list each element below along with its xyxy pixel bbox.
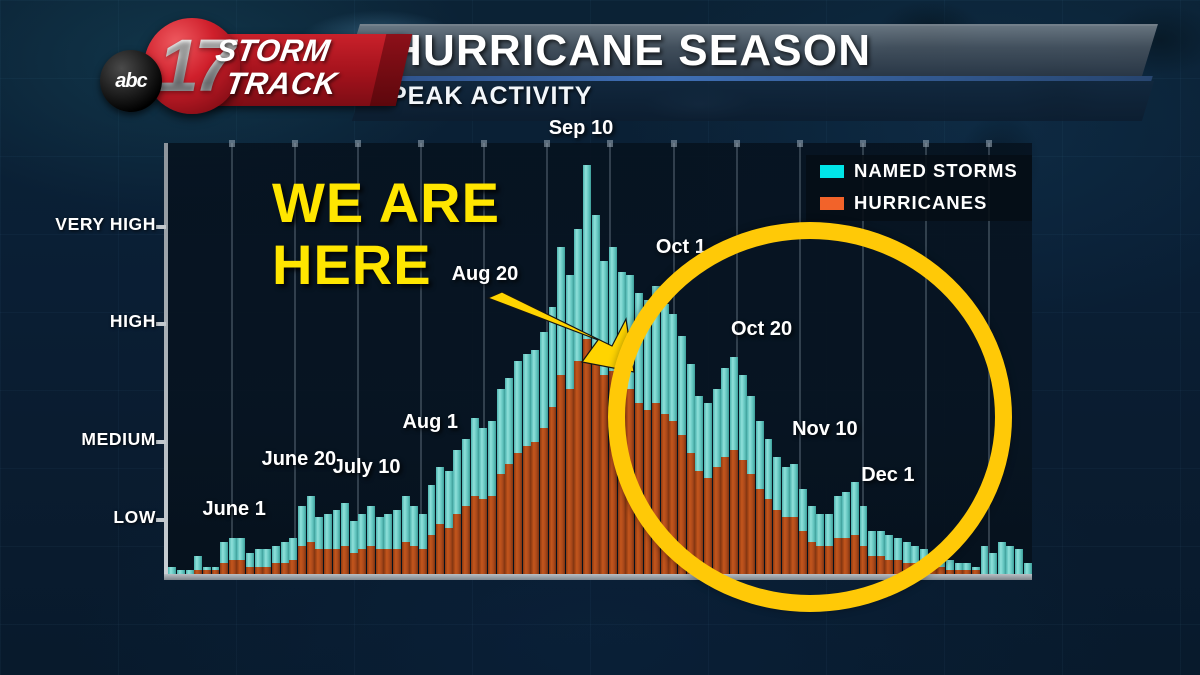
- bar-segment-hurricanes: [963, 570, 971, 574]
- chart-bar: [505, 378, 513, 574]
- chart-bar: [341, 503, 349, 574]
- gridline-tick: [292, 140, 298, 147]
- bar-segment-hurricanes: [540, 428, 548, 574]
- bar-segment-hurricanes: [583, 339, 591, 574]
- highlight-circle: [608, 222, 1012, 612]
- y-axis-label: HIGH: [110, 311, 156, 332]
- chart-bar: [177, 570, 185, 574]
- gridline-tick: [860, 140, 866, 147]
- pointer-arrow-icon: [486, 292, 636, 374]
- bar-segment-hurricanes: [428, 535, 436, 574]
- chart-bar: [393, 510, 401, 574]
- bar-segment-hurricanes: [436, 524, 444, 574]
- chart-bar: [471, 418, 479, 574]
- gridline-tick: [797, 140, 803, 147]
- date-annotation-label: June 1: [202, 498, 265, 521]
- chart-bar: [1024, 563, 1032, 574]
- bar-segment-hurricanes: [237, 560, 245, 574]
- bar-segment-hurricanes: [341, 546, 349, 574]
- chart-bar: [514, 361, 522, 574]
- logo-network-mark: abc: [100, 50, 162, 112]
- bar-segment-hurricanes: [289, 560, 297, 574]
- chart-bar: [246, 553, 254, 574]
- bar-segment-named-storms: [1015, 549, 1023, 574]
- chart-bar: [307, 496, 315, 574]
- chart-bar: [574, 229, 582, 574]
- bar-segment-hurricanes: [333, 549, 341, 574]
- bar-segment-named-storms: [186, 570, 194, 574]
- bar-segment-hurricanes: [263, 567, 271, 574]
- bar-segment-hurricanes: [566, 389, 574, 574]
- legend-label: NAMED STORMS: [854, 158, 1018, 184]
- bar-segment-hurricanes: [453, 514, 461, 574]
- bar-segment-hurricanes: [324, 549, 332, 574]
- bar-segment-hurricanes: [462, 506, 470, 574]
- bar-segment-hurricanes: [393, 549, 401, 574]
- chart-bar: [453, 450, 461, 574]
- bar-segment-hurricanes: [203, 570, 211, 574]
- bar-segment-named-storms: [168, 567, 176, 574]
- bar-segment-hurricanes: [937, 567, 945, 574]
- y-axis-tick: [156, 440, 166, 444]
- page-subtitle: PEAK ACTIVITY: [390, 82, 592, 111]
- bar-segment-hurricanes: [315, 549, 323, 574]
- chart-bar: [281, 542, 289, 574]
- chart-bar: [963, 563, 971, 574]
- bar-segment-hurricanes: [972, 570, 980, 574]
- chart-bar: [229, 538, 237, 574]
- bar-segment-hurricanes: [531, 442, 539, 574]
- bar-segment-hurricanes: [298, 546, 306, 574]
- bar-segment-hurricanes: [479, 499, 487, 574]
- bar-segment-named-storms: [177, 570, 185, 574]
- bar-segment-hurricanes: [272, 563, 280, 574]
- chart-bar: [998, 542, 1006, 574]
- bar-segment-hurricanes: [445, 528, 453, 574]
- chart-bar: [497, 389, 505, 574]
- chart-bar: [220, 542, 228, 574]
- station-logo: 17 abc STORM TRACK: [48, 8, 358, 120]
- chart-bar: [462, 439, 470, 574]
- chart-bar: [479, 428, 487, 574]
- callout-line-2: HERE: [272, 234, 572, 296]
- chart-bar: [358, 514, 366, 574]
- chart-bar: [333, 510, 341, 574]
- y-axis-tick: [156, 322, 166, 326]
- gridline-tick: [418, 140, 424, 147]
- bar-segment-hurricanes: [212, 570, 220, 574]
- bar-segment-named-storms: [1006, 546, 1014, 574]
- chart-bar: [972, 567, 980, 574]
- chart-bar: [981, 546, 989, 574]
- chart-bar: [168, 567, 176, 574]
- bar-segment-hurricanes: [497, 474, 505, 574]
- chart-bar: [955, 563, 963, 574]
- chart-bar: [367, 506, 375, 574]
- bar-segment-hurricanes: [471, 496, 479, 574]
- logo-brand-line1: STORM: [213, 34, 408, 67]
- bar-segment-hurricanes: [376, 549, 384, 574]
- gridline-tick: [923, 140, 929, 147]
- chart-bar: [523, 354, 531, 575]
- chart-bar: [402, 496, 410, 574]
- y-axis-line: [164, 143, 168, 580]
- callout-line-1: WE ARE: [272, 172, 572, 234]
- gridline-tick: [607, 140, 613, 147]
- gridline-tick: [544, 140, 550, 147]
- bar-segment-named-storms: [998, 542, 1006, 574]
- bar-segment-hurricanes: [367, 546, 375, 574]
- chart-bar: [350, 521, 358, 574]
- page-title: HURRICANE SEASON: [390, 26, 1130, 76]
- chart-bar: [384, 514, 392, 574]
- y-axis-tick: [156, 225, 166, 229]
- chart-bar: [531, 350, 539, 574]
- chart-bar: [203, 567, 211, 574]
- bar-segment-hurricanes: [488, 496, 496, 574]
- date-annotation-label: June 20: [262, 448, 336, 471]
- legend-swatch: [820, 165, 844, 178]
- y-axis-label: LOW: [113, 507, 156, 528]
- bar-segment-hurricanes: [523, 446, 531, 574]
- bar-segment-hurricanes: [600, 375, 608, 574]
- bar-segment-hurricanes: [194, 570, 202, 574]
- chart-bar: [298, 506, 306, 574]
- logo-brand-line2: TRACK: [223, 67, 418, 100]
- bar-segment-hurricanes: [255, 567, 263, 574]
- bar-segment-hurricanes: [229, 560, 237, 574]
- chart-bar: [376, 517, 384, 574]
- chart-bar: [324, 514, 332, 574]
- header: HURRICANE SEASON PEAK ACTIVITY 17 abc ST…: [0, 0, 1200, 132]
- broadcast-graphic: HURRICANE SEASON PEAK ACTIVITY 17 abc ST…: [0, 0, 1200, 675]
- bar-segment-hurricanes: [574, 361, 582, 574]
- chart-bar: [237, 538, 245, 574]
- date-annotation-label: Sep 10: [549, 117, 613, 140]
- chart-bar: [212, 567, 220, 574]
- chart-bar: [445, 471, 453, 574]
- gridline-tick: [481, 140, 487, 147]
- bar-segment-hurricanes: [505, 464, 513, 574]
- gridline-tick: [355, 140, 361, 147]
- y-axis-label: VERY HIGH: [55, 214, 156, 235]
- chart-bar: [263, 549, 271, 574]
- y-axis-tick: [156, 518, 166, 522]
- chart-bar: [428, 485, 436, 574]
- bar-segment-named-storms: [989, 553, 997, 574]
- bar-segment-named-storms: [1024, 563, 1032, 574]
- chart-bar: [436, 467, 444, 574]
- gridline-tick: [671, 140, 677, 147]
- chart-bar: [592, 215, 600, 574]
- bar-segment-hurricanes: [350, 553, 358, 574]
- chart-bar: [186, 570, 194, 574]
- bar-segment-hurricanes: [281, 563, 289, 574]
- chart-bar: [255, 549, 263, 574]
- bar-segment-hurricanes: [358, 549, 366, 574]
- chart-bar: [1006, 546, 1014, 574]
- chart-bar: [419, 514, 427, 574]
- bar-segment-hurricanes: [220, 563, 228, 574]
- gridline-tick: [229, 140, 235, 147]
- chart-bar: [946, 560, 954, 574]
- bar-segment-hurricanes: [557, 375, 565, 574]
- bar-segment-hurricanes: [402, 542, 410, 574]
- bar-segment-hurricanes: [955, 570, 963, 574]
- chart-bar: [272, 546, 280, 574]
- chart-legend: NAMED STORMSHURRICANES: [806, 155, 1032, 221]
- chart-bar: [1015, 549, 1023, 574]
- date-annotation-label: Aug 1: [402, 411, 458, 434]
- legend-label: HURRICANES: [854, 190, 987, 216]
- bar-segment-named-storms: [981, 546, 989, 574]
- we-are-here-callout: WE ARE HERE: [272, 172, 572, 296]
- chart-bar: [194, 556, 202, 574]
- bar-segment-hurricanes: [514, 453, 522, 574]
- bar-segment-hurricanes: [307, 542, 315, 574]
- bar-segment-hurricanes: [946, 570, 954, 574]
- legend-swatch: [820, 197, 844, 210]
- gridline-tick: [734, 140, 740, 147]
- chart-bar: [410, 506, 418, 574]
- y-axis-label: MEDIUM: [81, 429, 156, 450]
- bar-segment-hurricanes: [549, 407, 557, 574]
- chart-bar: [289, 538, 297, 574]
- bar-segment-hurricanes: [246, 567, 254, 574]
- bar-segment-hurricanes: [384, 549, 392, 574]
- bar-segment-hurricanes: [419, 549, 427, 574]
- chart-bar: [989, 553, 997, 574]
- gridline-tick: [986, 140, 992, 147]
- bar-segment-hurricanes: [592, 354, 600, 575]
- chart-bar: [488, 421, 496, 574]
- date-annotation-label: July 10: [333, 456, 401, 479]
- bar-segment-hurricanes: [410, 546, 418, 574]
- chart-bar: [315, 517, 323, 574]
